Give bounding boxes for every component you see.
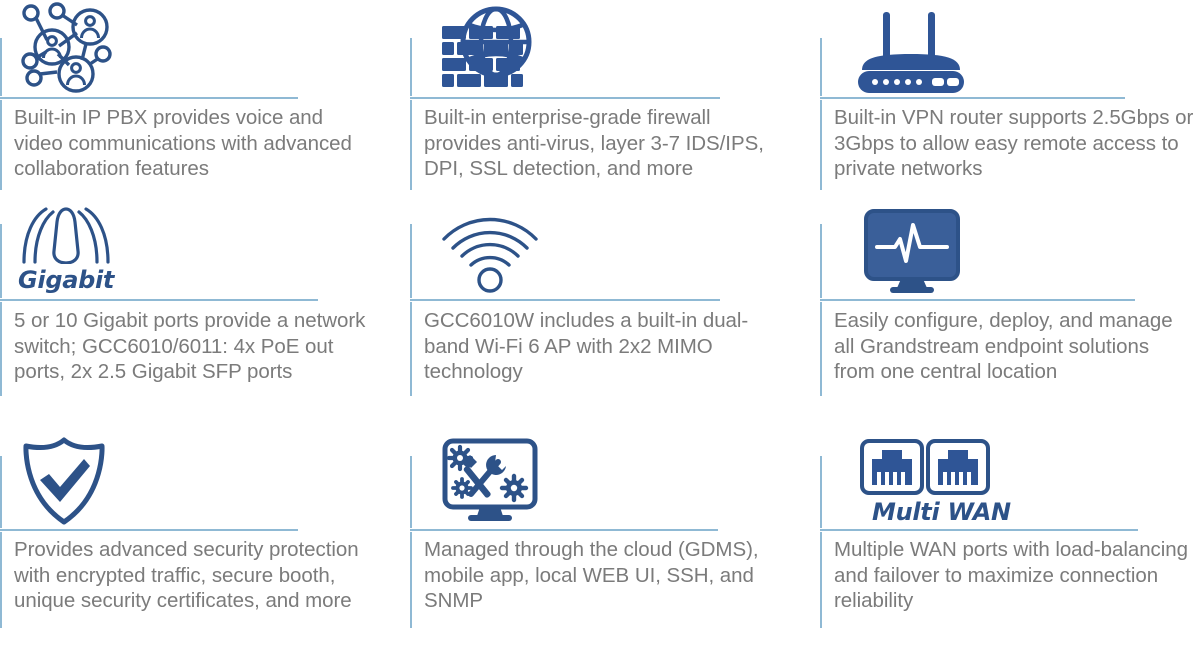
vertical-rule-bottom (0, 100, 2, 190)
monitor-stand (897, 279, 927, 288)
vertical-rule-top (0, 224, 2, 298)
monitor-tools-gears-icon (440, 438, 540, 526)
feature-description: Built-in IP PBX provides voice and video… (14, 105, 354, 182)
horizontal-rule (820, 97, 1125, 99)
router-top (862, 54, 960, 70)
gigabit-logo-label: Gigabit (18, 266, 114, 294)
rj45-port-left (862, 441, 922, 493)
horizontal-rule (0, 299, 318, 301)
horizontal-rule (410, 529, 718, 531)
feature-card-cloud-management: Managed through the cloud (GDMS), mobile… (410, 436, 820, 648)
icon-area (424, 2, 538, 94)
gear-bottom-left (453, 479, 471, 497)
vertical-rule-top (820, 456, 822, 528)
vertical-rule-bottom (0, 532, 2, 628)
vertical-rule-top (820, 224, 822, 298)
feature-grid: Built-in IP PBX provides voice and video… (0, 0, 1200, 648)
vertical-rule-top (410, 224, 412, 298)
vertical-rule-bottom (410, 302, 412, 396)
feature-card-security: Provides advanced security protection wi… (0, 436, 410, 648)
icon-area (14, 2, 118, 94)
horizontal-rule (820, 529, 1138, 531)
rj45-port-right (928, 441, 988, 493)
feature-card-wifi6: GCC6010W includes a built-in dual-band W… (410, 206, 820, 436)
horizontal-rule (820, 299, 1135, 301)
feature-card-central-management: Easily configure, deploy, and manage all… (820, 206, 1200, 436)
shield-outline (26, 440, 102, 522)
icon-area (14, 436, 110, 526)
feature-description: Managed through the cloud (GDMS), mobile… (424, 537, 772, 614)
gigabit-center-shape (54, 209, 78, 263)
monitor-pulse-icon (860, 208, 964, 294)
vertical-rule-bottom (410, 532, 412, 628)
vertical-rule-top (410, 38, 412, 96)
gear-top-left (449, 447, 471, 469)
gear-bottom-right (502, 476, 526, 500)
gigabit-logo-icon (18, 206, 114, 264)
feature-card-vpn-router: Built-in VPN router supports 2.5Gbps or … (820, 0, 1200, 206)
wifi-icon (438, 212, 542, 294)
feature-card-firewall: Built-in enterprise-grade firewall provi… (410, 0, 820, 206)
feature-card-ip-pbx: Built-in IP PBX provides voice and video… (0, 0, 410, 206)
icon-area (424, 436, 540, 526)
network-people-icon (14, 2, 118, 94)
feature-description: GCC6010W includes a built-in dual-band W… (424, 308, 774, 385)
horizontal-rule (410, 97, 720, 99)
firewall-brickwall-globe-icon (438, 4, 538, 94)
vertical-rule-bottom (0, 302, 2, 396)
monitor-stand (477, 507, 503, 516)
vertical-rule-bottom (410, 100, 412, 190)
feature-description: Easily configure, deploy, and manage all… (834, 308, 1194, 385)
horizontal-rule (410, 299, 720, 301)
router-icon (852, 8, 970, 94)
vertical-rule-bottom (820, 302, 822, 396)
check-mark (40, 459, 90, 502)
monitor-base (890, 287, 934, 293)
horizontal-rule (0, 529, 298, 531)
feature-description: 5 or 10 Gigabit ports provide a network … (14, 308, 366, 385)
vertical-rule-top (410, 456, 412, 528)
feature-description: Built-in VPN router supports 2.5Gbps or … (834, 105, 1194, 182)
vertical-rule-bottom (820, 532, 822, 628)
multi-wan-logo-label: Multi WAN (872, 498, 1011, 526)
vertical-rule-top (0, 38, 2, 96)
feature-card-gigabit-ports: Gigabit 5 or 10 Gigabit ports provide a … (0, 206, 410, 436)
shield-check-icon (18, 436, 110, 526)
rj45-ports-icon (860, 439, 990, 497)
icon-area (424, 206, 542, 294)
horizontal-rule (0, 97, 298, 99)
vertical-rule-bottom (820, 100, 822, 190)
feature-card-multi-wan: Multi WAN Multiple WAN ports with load-b… (820, 436, 1200, 648)
icon-area: Gigabit (14, 206, 114, 294)
person-node-left (35, 30, 69, 64)
icon-area: Multi WAN (834, 436, 1011, 526)
feature-description: Built-in enterprise-grade firewall provi… (424, 105, 774, 182)
feature-description: Provides advanced security protection wi… (14, 537, 359, 614)
monitor-base (468, 515, 512, 521)
vertical-rule-top (0, 456, 2, 528)
icon-area (834, 206, 964, 294)
person-node-bottom (59, 57, 93, 91)
wrench-head (486, 455, 506, 475)
person-node-top-right (73, 10, 107, 44)
vertical-rule-top (820, 38, 822, 96)
feature-description: Multiple WAN ports with load-balancing a… (834, 537, 1194, 614)
icon-area (834, 2, 970, 94)
